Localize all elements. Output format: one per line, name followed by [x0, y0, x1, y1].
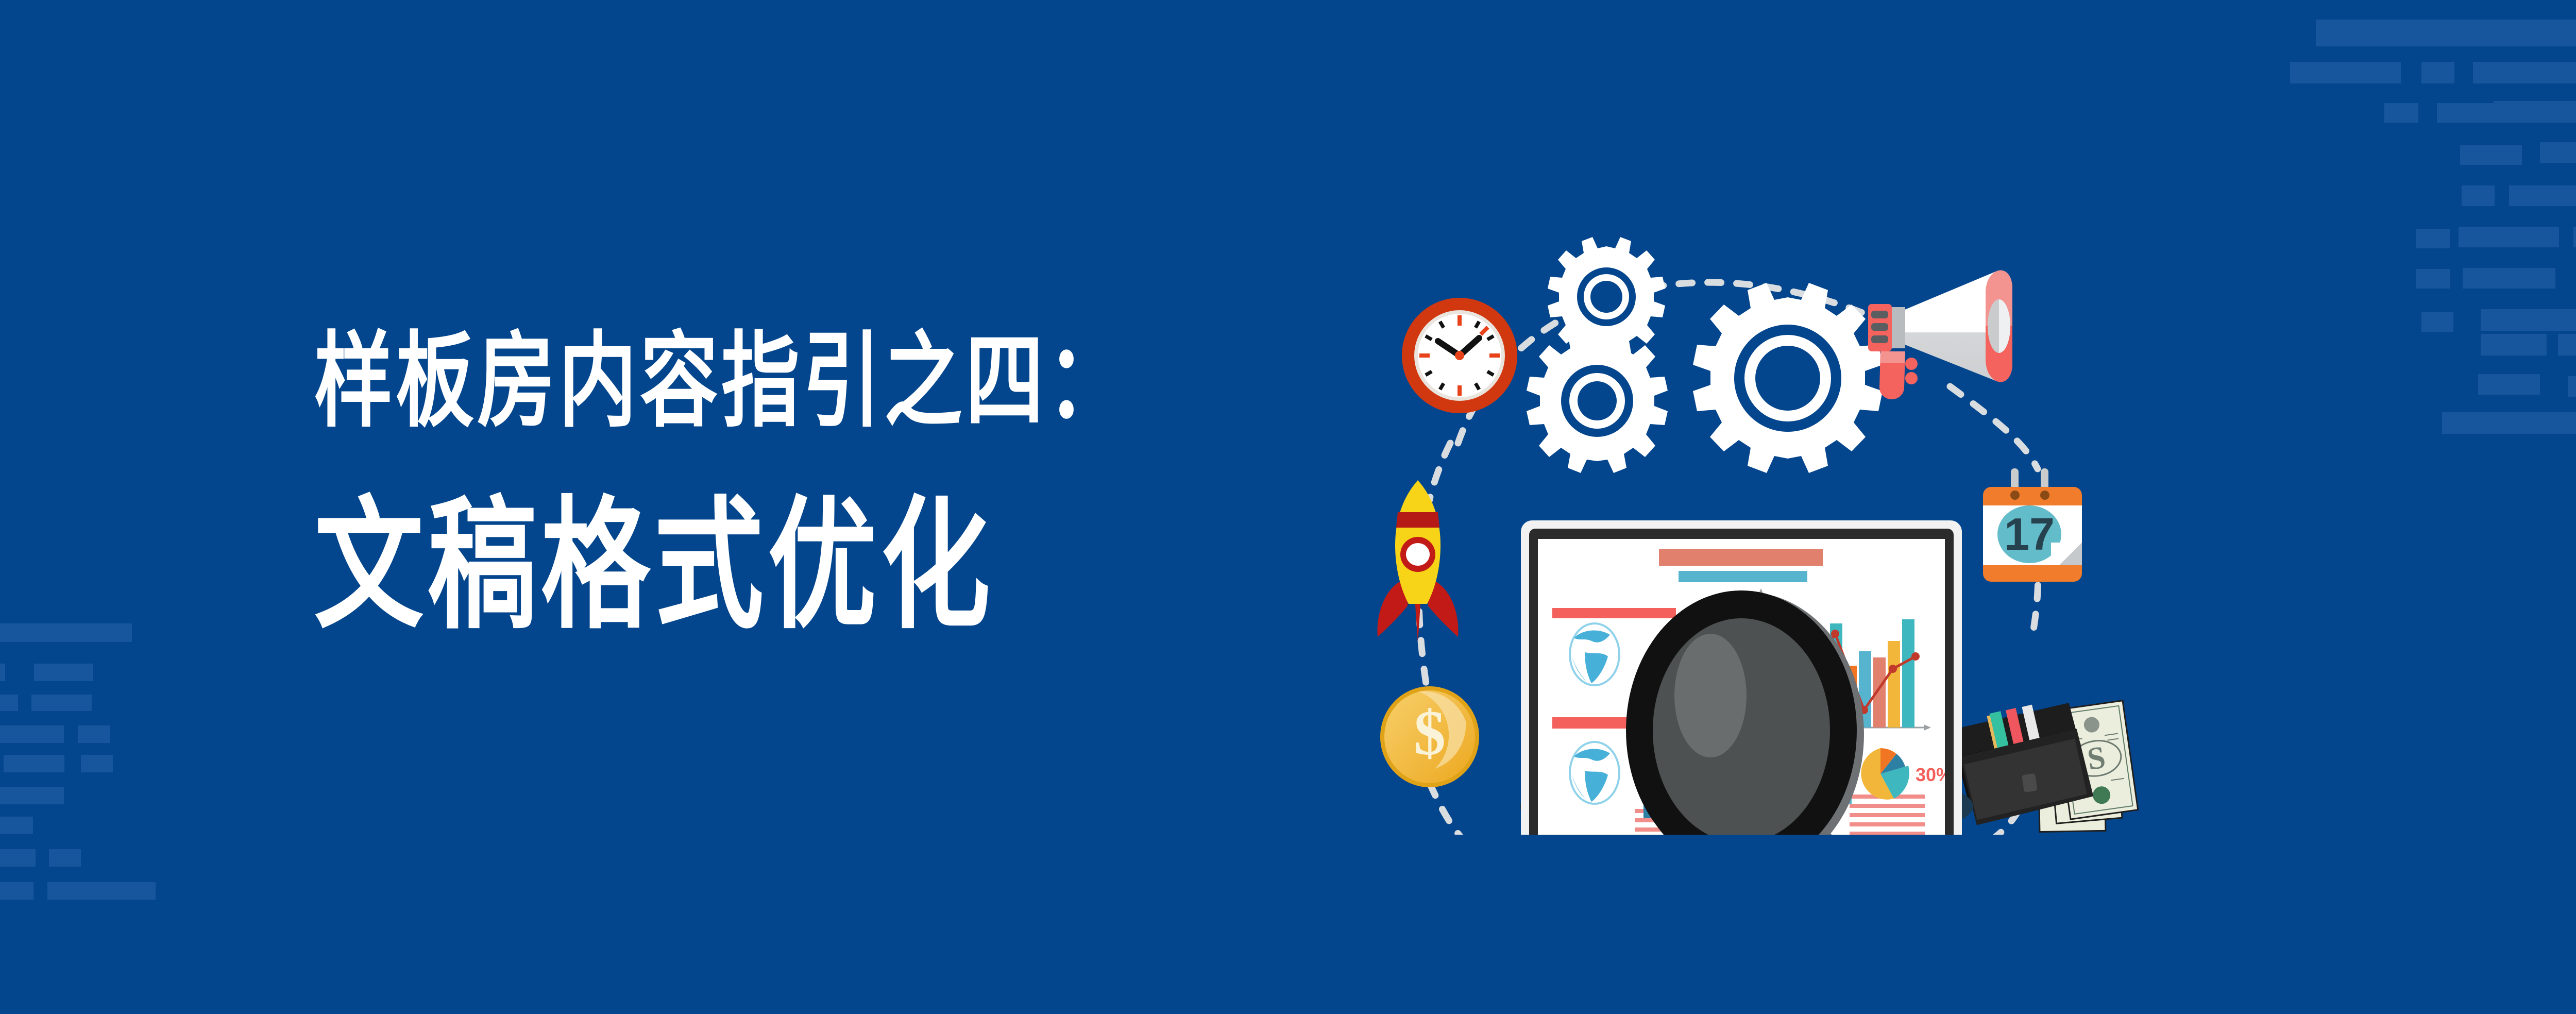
decor-left-rect [78, 725, 110, 743]
decor-left-rect [0, 664, 5, 681]
decor-right-rect [2573, 227, 2576, 247]
dashed-arc-right [1950, 386, 2038, 469]
rocket-stripe [1396, 512, 1439, 528]
decor-right-rect [2421, 62, 2454, 83]
clock-icon [1402, 298, 1517, 413]
decor-right-rect [2290, 62, 2401, 83]
decor-right-rect [2540, 103, 2576, 123]
decor-right-rect [2384, 103, 2418, 123]
decor-left-rect [31, 695, 92, 711]
megaphone-vents [1871, 311, 1888, 343]
decor-right-rect [2463, 268, 2555, 289]
screen-title-bar-red [1659, 549, 1823, 566]
decor-right-rect [2416, 229, 2450, 248]
decor-right-rect [2316, 20, 2576, 46]
screen-title-bar-blue [1679, 571, 1807, 582]
decor-right-rect [2509, 185, 2576, 206]
megaphone-trigger [1905, 358, 1918, 384]
decor-left-rect [81, 755, 113, 772]
decor-right-rect [2416, 269, 2450, 289]
decor-right-rect [2459, 227, 2559, 247]
gear-large [1693, 283, 1883, 473]
megaphone-icon [1868, 271, 2012, 399]
dashed-arc-left-lower [1430, 783, 1478, 835]
gear-small-top [1548, 237, 1665, 357]
decor-left-rect [49, 849, 81, 867]
wallet-money-icon: S [1948, 692, 2140, 835]
decor-right-rect [2481, 309, 2576, 331]
decor-right-rect [2568, 376, 2576, 397]
headline-line-2: 文稿格式优化 [314, 495, 1293, 637]
calendar-pin-left [2010, 491, 2020, 500]
clock-center [1455, 351, 1464, 360]
decor-left-rect [0, 623, 132, 642]
calendar-icon: 17 [1983, 468, 2082, 582]
calendar-pin-right [2040, 491, 2049, 500]
decor-left-rect [0, 695, 18, 711]
decor-right-rect [2540, 142, 2576, 163]
decor-right-rect [2473, 62, 2576, 83]
megaphone-neck [1890, 307, 1905, 348]
decor-left-rect [0, 817, 33, 834]
coin-icon: $ [1380, 686, 1479, 787]
megaphone-handle-top [1880, 351, 1905, 363]
data-analysis-illustration: $ [1340, 201, 2174, 835]
decor-left-rect [0, 882, 33, 900]
gears-icon [1527, 237, 1883, 473]
decor-left-rect [0, 849, 36, 867]
decor-right-rect [2442, 412, 2576, 434]
gear-medium-left [1527, 329, 1668, 473]
decor-left-rect [0, 725, 64, 743]
decor-left-rect [0, 787, 64, 804]
decor-left-rect [4, 755, 64, 772]
screen-rule-1 [1552, 608, 1676, 618]
decor-right-rect [2462, 185, 2495, 206]
headline-block: 样板房内容指引之四： 文稿格式优化 [314, 330, 1293, 604]
decor-right-rect [2481, 334, 2547, 356]
headline-line-1: 样板房内容指引之四： [314, 330, 1293, 433]
banner-root: 样板房内容指引之四： 文稿格式优化 [0, 0, 2576, 1014]
calendar-day-number: 17 [2004, 509, 2055, 560]
decor-right-rect [2478, 374, 2540, 395]
decor-left-rect [34, 664, 93, 681]
rocket-window [1406, 543, 1430, 566]
rocket-icon [1378, 480, 1459, 642]
decor-left-rect [47, 882, 156, 900]
decor-right-rect [2558, 334, 2576, 356]
decor-right-rect [2421, 312, 2453, 332]
decor-right-rect [2460, 145, 2522, 165]
coin-dollar-sign: $ [1414, 698, 1446, 768]
decor-right-rect [2437, 103, 2527, 123]
